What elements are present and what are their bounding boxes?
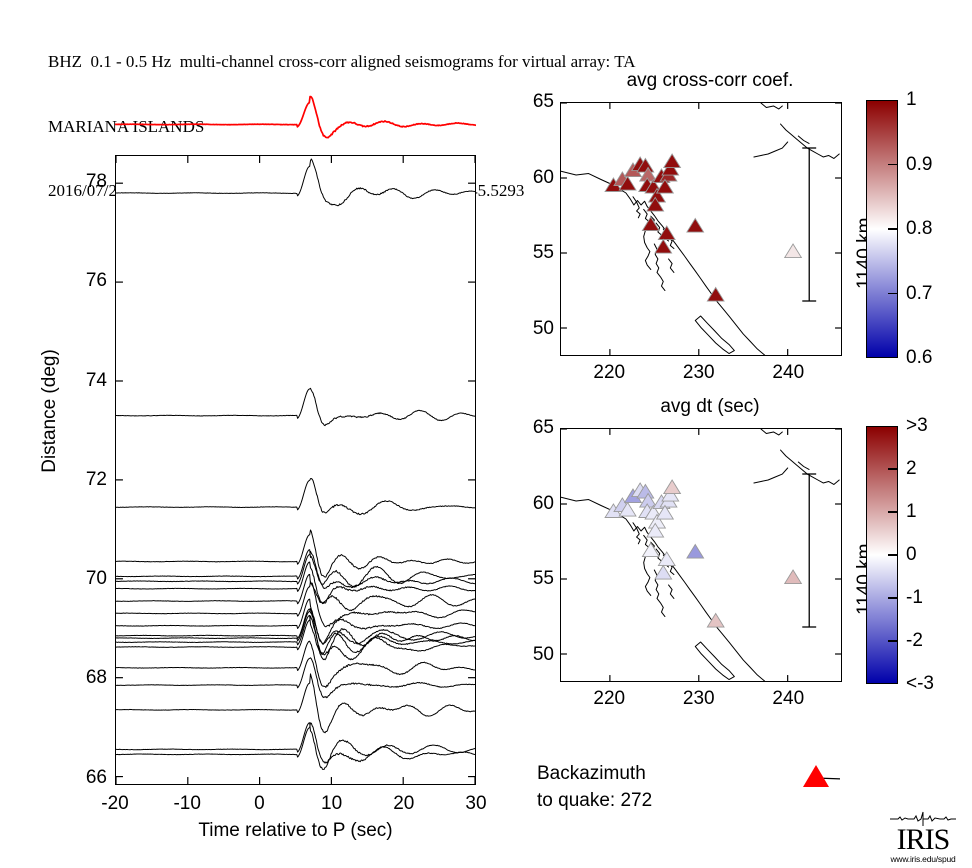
backazimuth-triangle (803, 765, 829, 787)
map-cross-corr-svg (561, 103, 841, 355)
map-y-tick: 55 (516, 568, 554, 590)
station-marker (658, 552, 675, 565)
map-x-tick: 240 (772, 688, 804, 710)
colorbar-tick: -1 (906, 587, 923, 609)
station-marker (785, 570, 802, 584)
seismogram-x-tick: 30 (465, 793, 486, 815)
colorbar-tickmark (888, 468, 897, 469)
seismogram-y-tick: 74 (86, 370, 107, 392)
iris-logo[interactable]: IRIS www.iris.edu/spud (880, 810, 966, 864)
station-marker (658, 226, 675, 239)
colorbar-tickmark (888, 293, 897, 294)
map-y-tick: 55 (516, 242, 554, 264)
map-avg-dt[interactable] (560, 428, 842, 682)
colorbar-tick: <-3 (906, 673, 934, 695)
map-y-tick: 65 (516, 417, 554, 439)
seismogram-x-tick: 20 (393, 793, 414, 815)
colorbar-tick: 2 (906, 458, 917, 480)
station-marker (664, 480, 681, 494)
station-marker (707, 614, 724, 627)
backazimuth-indicator-icon (700, 752, 840, 802)
iris-wordmark: IRIS (880, 826, 966, 854)
map-bottom-title: avg dt (sec) (580, 396, 840, 418)
seismogram-y-axis-title: Distance (deg) (39, 321, 61, 501)
colorbar-tick: 1 (906, 89, 917, 111)
colorbar-tickmark (888, 511, 897, 512)
station-marker (687, 544, 704, 558)
seismogram-x-tick: -20 (101, 793, 128, 815)
colorbar-tick: >3 (906, 415, 928, 437)
map-y-tick: 65 (516, 91, 554, 113)
reference-stack-svg (115, 86, 476, 148)
seismogram-y-tick: 70 (86, 568, 107, 590)
station-marker (785, 244, 802, 258)
colorbar-tick: 0.7 (906, 283, 932, 305)
map-cross-corr[interactable] (560, 102, 842, 356)
station-marker (707, 288, 724, 301)
station-marker (655, 240, 672, 253)
colorbar-tickmark (888, 597, 897, 598)
map-y-tick: 50 (516, 318, 554, 340)
seismogram-y-tick: 78 (86, 171, 107, 193)
seismogram-y-tick: 76 (86, 270, 107, 292)
colorbar-tick: 0.6 (906, 347, 932, 369)
map-x-tick: 240 (772, 362, 804, 384)
seismogram-x-tick: 10 (321, 793, 342, 815)
seismogram-plot[interactable] (115, 155, 476, 785)
map-top-title: avg cross-corr coef. (580, 70, 840, 92)
station-marker (687, 218, 704, 232)
seismogram-y-tick: 66 (86, 767, 107, 789)
colorbar-tickmark (888, 164, 897, 165)
backazimuth-label: Backazimuth (537, 760, 652, 787)
map-y-tick: 60 (516, 493, 554, 515)
seismogram-x-tick: 0 (254, 793, 265, 815)
station-marker (664, 154, 681, 168)
seismogram-y-tick: 72 (86, 469, 107, 491)
colorbar-tick: 1 (906, 501, 917, 523)
colorbar-tick: 0.8 (906, 218, 932, 240)
colorbar-tick: 0 (906, 544, 917, 566)
map-x-tick: 220 (593, 688, 625, 710)
map-y-tick: 50 (516, 644, 554, 666)
reference-stack-trace (115, 86, 476, 148)
map-x-tick: 220 (593, 362, 625, 384)
map-x-tick: 230 (683, 362, 715, 384)
colorbar-tick: 0.9 (906, 154, 932, 176)
station-marker (655, 566, 672, 579)
seismogram-x-tick: -10 (173, 793, 200, 815)
backazimuth-block: Backazimuth to quake: 272 (537, 760, 652, 814)
seismogram-x-axis-title: Time relative to P (sec) (115, 820, 476, 842)
colorbar-tickmark (888, 554, 897, 555)
colorbar-tick: -2 (906, 630, 923, 652)
map-avg-dt-svg (561, 429, 841, 681)
iris-url: www.iris.edu/spud (880, 854, 966, 864)
backazimuth-value: to quake: 272 (537, 787, 652, 814)
seismogram-traces-svg (116, 156, 475, 784)
colorbar-tickmark (888, 640, 897, 641)
map-x-tick: 230 (683, 688, 715, 710)
map-y-tick: 60 (516, 167, 554, 189)
seismogram-y-tick: 68 (86, 667, 107, 689)
colorbar-tickmark (888, 228, 897, 229)
